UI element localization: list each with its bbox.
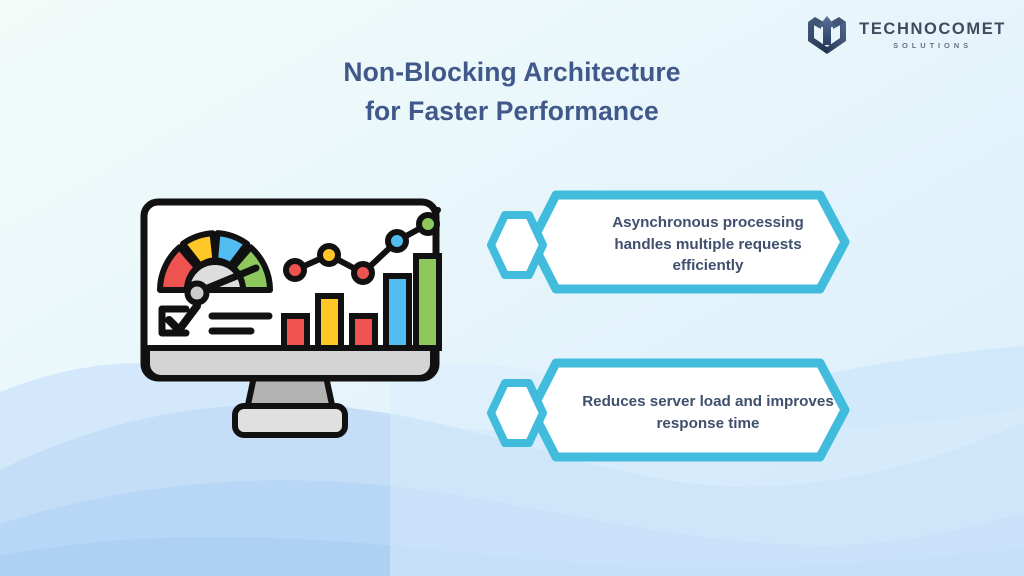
- point-4: [388, 232, 406, 250]
- slide-canvas: TECHNOCOMET SOLUTIONS Non-Blocking Archi…: [0, 0, 1024, 576]
- cube-arrow-up-icon: [805, 14, 849, 56]
- logo-company-name: TECHNOCOMET: [859, 21, 1006, 38]
- bar-2: [318, 296, 341, 348]
- bar-5: [416, 256, 439, 348]
- point-1: [286, 261, 304, 279]
- brand-logo: TECHNOCOMET SOLUTIONS: [805, 14, 1006, 56]
- monitor-bezel: [147, 348, 433, 378]
- callout-banner-shape: [526, 358, 850, 462]
- page-title-line-1: Non-Blocking Architecture: [0, 53, 1024, 92]
- bar-3: [352, 316, 375, 348]
- callout-banner-0: Asynchronous processing handles multiple…: [526, 190, 850, 299]
- callout-banner-1: Reduces server load and improves respons…: [526, 358, 850, 467]
- bar-1: [284, 316, 307, 348]
- logo-tagline: SOLUTIONS: [893, 42, 972, 50]
- point-5: [419, 215, 437, 233]
- point-2: [320, 246, 338, 264]
- bar-4: [386, 276, 409, 348]
- gauge-hub: [188, 284, 207, 303]
- hexagon-bullet-icon: [486, 377, 548, 449]
- point-3: [354, 264, 372, 282]
- callout-item-0[interactable]: Asynchronous processing handles multiple…: [486, 190, 850, 299]
- callout-item-1[interactable]: Reduces server load and improves respons…: [486, 358, 850, 467]
- page-title: Non-Blocking Architecture for Faster Per…: [0, 53, 1024, 131]
- callout-banner-shape: [526, 190, 850, 294]
- hexagon-bullet-icon: [486, 209, 548, 281]
- analytics-dashboard-monitor: [138, 196, 442, 442]
- page-title-line-2: for Faster Performance: [0, 92, 1024, 131]
- monitor-stand-base: [235, 406, 345, 435]
